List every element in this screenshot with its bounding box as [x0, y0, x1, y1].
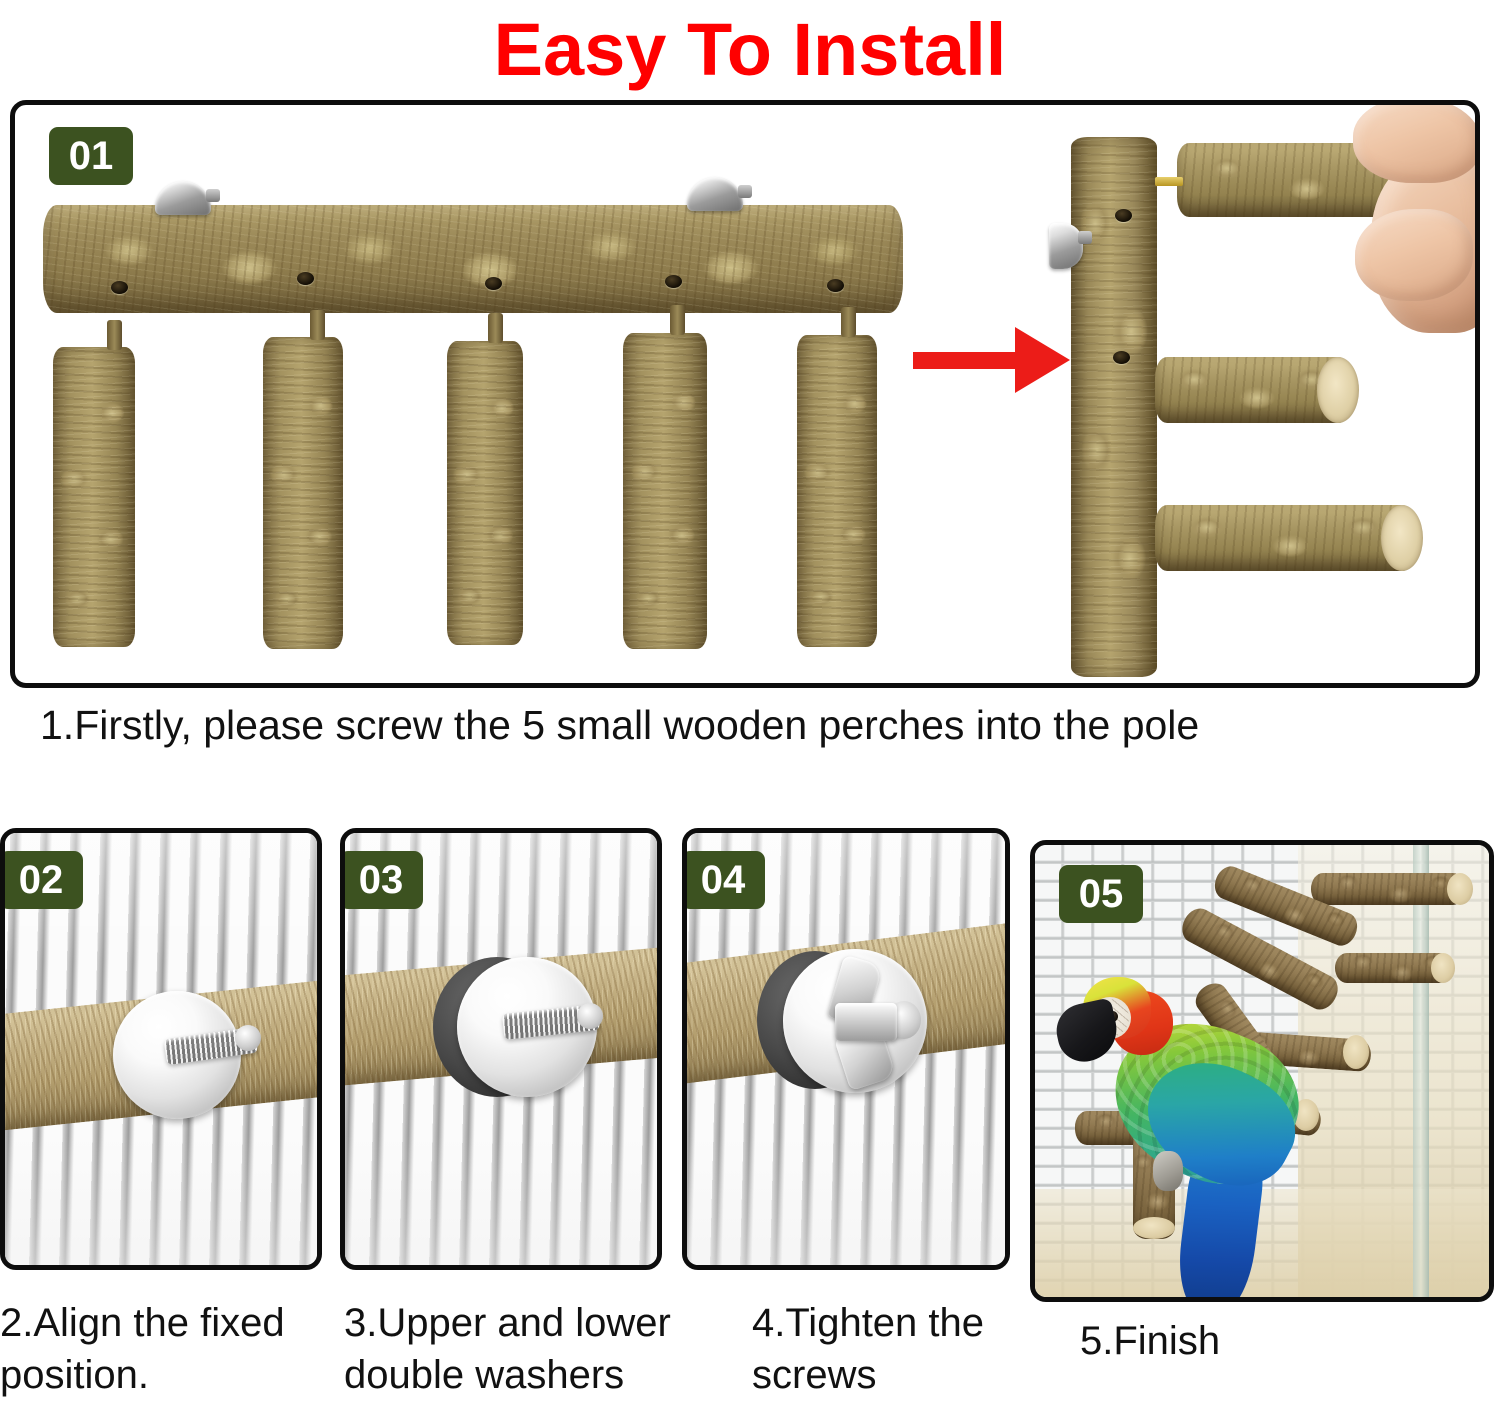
hand-finger-upper [1353, 105, 1475, 183]
bolt-tip-03 [577, 1003, 603, 1029]
step-badge-04: 04 [682, 851, 765, 909]
main-pole-horizontal [43, 205, 903, 313]
step-caption-03-line1: 3.Upper and lower [344, 1298, 671, 1348]
perch-stud-4 [670, 305, 685, 335]
branch-bottom-vertical-end [1133, 1217, 1175, 1239]
branch-middle-right-end [1431, 953, 1455, 983]
perch-stick-4 [623, 333, 707, 649]
perch-stud-3 [488, 313, 503, 343]
step-badge-05: 05 [1059, 865, 1143, 923]
brass-screw-stud [1155, 177, 1183, 186]
pole-hole-1 [111, 281, 128, 294]
branch-top-horizontal [1311, 873, 1465, 905]
bolt-tip-02 [235, 1025, 261, 1051]
assembled-pole-vertical [1071, 137, 1157, 677]
step-badge-03: 03 [340, 851, 423, 909]
pole-hole-5 [827, 279, 844, 292]
mounted-perch-middle-cut-end [1317, 357, 1359, 423]
step-caption-04-line1: 4.Tighten the [752, 1298, 984, 1348]
branch-top-end [1447, 873, 1473, 905]
pole-hole-2 [297, 272, 314, 285]
step-caption-04-line2: screws [752, 1350, 876, 1400]
perch-stud-2 [310, 310, 325, 340]
perch-stud-5 [841, 307, 856, 337]
step-caption-02-line2: position. [0, 1350, 149, 1400]
step-caption-05-line1: 5.Finish [1080, 1316, 1220, 1366]
step-caption-03-line2: double washers [344, 1350, 624, 1400]
parrot-foot [1153, 1151, 1183, 1191]
chrome-screw-cap-right [687, 177, 743, 211]
assembled-chrome-cap [1049, 223, 1083, 269]
step-caption-02-line1: 2.Align the fixed [0, 1298, 285, 1348]
chrome-screw-cap-left [155, 181, 211, 215]
perch-stick-5 [797, 335, 877, 647]
assembled-pole-hole-1 [1115, 209, 1132, 222]
pole-hole-3 [485, 277, 502, 290]
assembled-pole-hole-2 [1113, 351, 1130, 364]
step-caption-01: 1.Firstly, please screw the 5 small wood… [40, 700, 1199, 750]
pole-hole-4 [665, 275, 682, 288]
wingnut-body-04 [835, 1003, 897, 1041]
perch-stick-1 [53, 347, 135, 647]
step-panel-02: 02 [0, 828, 322, 1270]
step-01-scene [15, 105, 1475, 683]
red-arrow-icon [1015, 327, 1070, 393]
perch-stick-2 [263, 337, 343, 649]
step-panel-03: 03 [340, 828, 662, 1270]
perch-stud-1 [107, 320, 122, 350]
step-panel-05: 05 [1030, 840, 1494, 1302]
page-title: Easy To Install [0, 4, 1500, 96]
step-badge-02: 02 [0, 851, 83, 909]
branch-center-end [1343, 1035, 1369, 1069]
step-panel-04: 04 [682, 828, 1010, 1270]
hand-thumb [1355, 209, 1473, 301]
cage-glass-edge [1413, 845, 1429, 1297]
perch-stick-3 [447, 341, 523, 645]
step-panel-01: 01 [10, 100, 1480, 688]
step-badge-01: 01 [49, 127, 133, 185]
mounted-perch-lower-cut-end [1381, 505, 1423, 571]
mounted-perch-lower [1155, 505, 1415, 571]
